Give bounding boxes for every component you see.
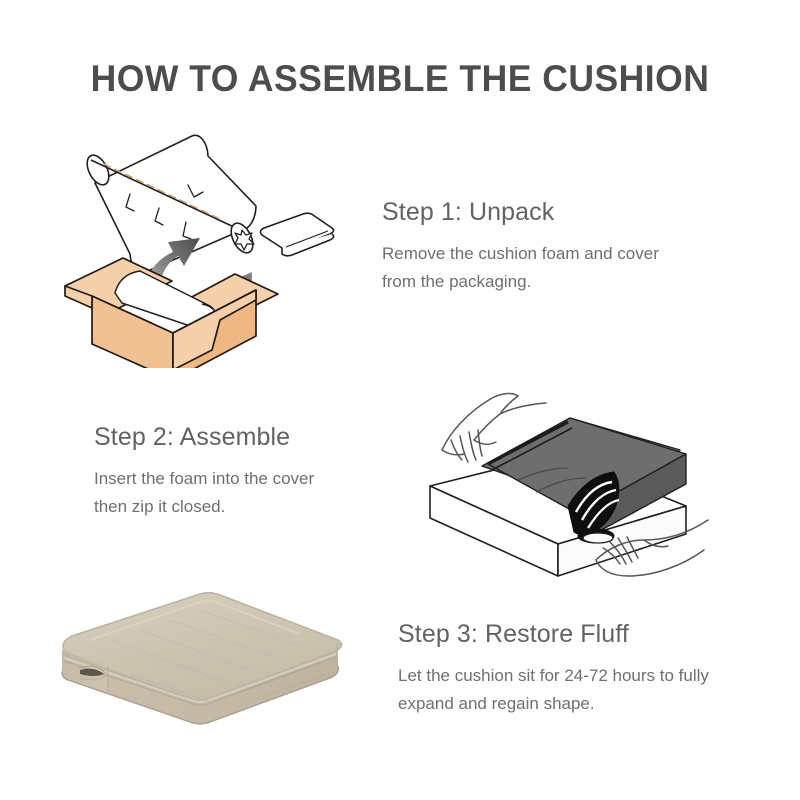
step-1-body-line-2: from the packaging. (382, 268, 659, 296)
folded-cover-icon (260, 213, 333, 256)
step-1-body-line-1: Remove the cushion foam and cover (382, 240, 659, 268)
finished-cushion-icon (62, 593, 342, 724)
rolled-foam-roll-icon (83, 135, 258, 273)
cardboard-box-icon (65, 258, 278, 368)
step-1-heading: Step 1: Unpack (382, 198, 659, 227)
step-3-illustration (50, 588, 350, 738)
step-1-illustration (60, 118, 390, 368)
step-2-body-line-2: then zip it closed. (94, 493, 314, 521)
step-3-body: Let the cushion sit for 24-72 hours to f… (398, 662, 709, 717)
infographic-canvas: HOW TO ASSEMBLE THE CUSHION (0, 0, 800, 800)
step-2-body: Insert the foam into the cover then zip … (94, 465, 314, 520)
step-3-body-line-2: expand and regain shape. (398, 690, 709, 718)
step-3-text-block: Step 3: Restore Fluff Let the cushion si… (398, 620, 709, 717)
step-3-body-line-1: Let the cushion sit for 24-72 hours to f… (398, 662, 709, 690)
page-title: HOW TO ASSEMBLE THE CUSHION (16, 58, 784, 100)
step-1-body: Remove the cushion foam and cover from t… (382, 240, 659, 295)
step-2-body-line-1: Insert the foam into the cover (94, 465, 314, 493)
step-2-text-block: Step 2: Assemble Insert the foam into th… (94, 423, 314, 520)
step-1-text-block: Step 1: Unpack Remove the cushion foam a… (382, 198, 659, 295)
step-3-heading: Step 3: Restore Fluff (398, 620, 709, 649)
step-2-heading: Step 2: Assemble (94, 423, 314, 452)
step-2-illustration (418, 388, 774, 600)
